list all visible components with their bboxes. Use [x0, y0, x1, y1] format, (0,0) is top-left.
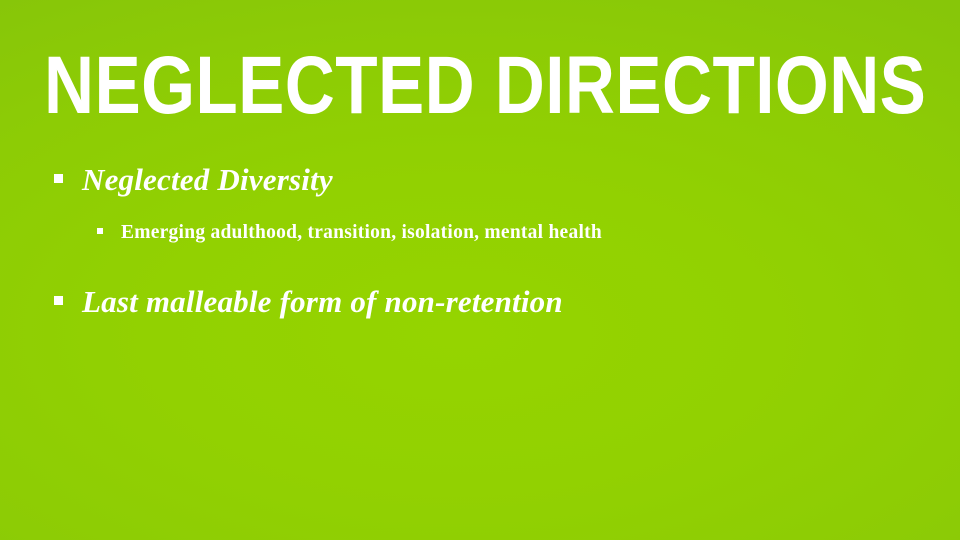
bullet-item-label: Neglected Diversity: [82, 160, 333, 200]
bullet-item-level1[interactable]: Last malleable form of non-retention: [0, 282, 960, 322]
slide-body-placeholder[interactable]: Neglected Diversity Emerging adulthood, …: [0, 160, 960, 328]
square-bullet-icon: [54, 174, 63, 183]
bullet-item-label: Emerging adulthood, transition, isolatio…: [121, 220, 602, 246]
square-bullet-icon: [54, 296, 63, 305]
presentation-slide: NEGLECTED DIRECTIONS Neglected Diversity…: [0, 0, 960, 540]
bullet-item-level1[interactable]: Neglected Diversity: [0, 160, 960, 200]
page-title: NEGLECTED DIRECTIONS: [44, 44, 796, 128]
slide-title-placeholder[interactable]: NEGLECTED DIRECTIONS: [44, 44, 934, 136]
square-bullet-icon: [97, 228, 103, 234]
bullet-item-label: Last malleable form of non-retention: [82, 282, 563, 322]
bullet-spacer: [0, 266, 960, 282]
bullet-item-level2[interactable]: Emerging adulthood, transition, isolatio…: [0, 220, 960, 246]
